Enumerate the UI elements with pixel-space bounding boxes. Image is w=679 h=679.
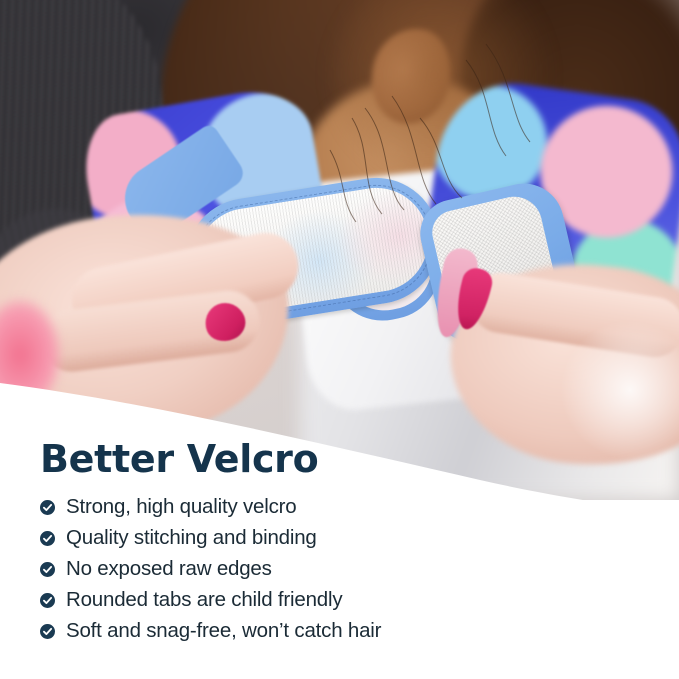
list-item-label: Soft and snag-free, won’t catch hair <box>66 621 381 642</box>
photo-hair-strands <box>0 0 679 500</box>
list-item-label: Rounded tabs are child friendly <box>66 590 342 611</box>
check-circle-icon <box>40 531 55 546</box>
check-circle-icon <box>40 624 55 639</box>
page-title: Better Velcro <box>40 440 640 480</box>
list-item: Strong, high quality velcro <box>40 492 640 523</box>
list-item: Soft and snag-free, won’t catch hair <box>40 616 640 647</box>
infographic-canvas: Better Velcro Strong, high quality velcr… <box>0 0 679 679</box>
check-circle-icon <box>40 593 55 608</box>
check-circle-icon <box>40 500 55 515</box>
check-circle-icon <box>40 562 55 577</box>
feature-list: Strong, high quality velcro Quality stit… <box>40 492 640 647</box>
product-photo <box>0 0 679 500</box>
list-item: No exposed raw edges <box>40 554 640 585</box>
text-panel: Better Velcro Strong, high quality velcr… <box>40 440 640 647</box>
list-item-label: No exposed raw edges <box>66 559 272 580</box>
list-item: Quality stitching and binding <box>40 523 640 554</box>
list-item-label: Strong, high quality velcro <box>66 497 296 518</box>
list-item-label: Quality stitching and binding <box>66 528 317 549</box>
list-item: Rounded tabs are child friendly <box>40 585 640 616</box>
